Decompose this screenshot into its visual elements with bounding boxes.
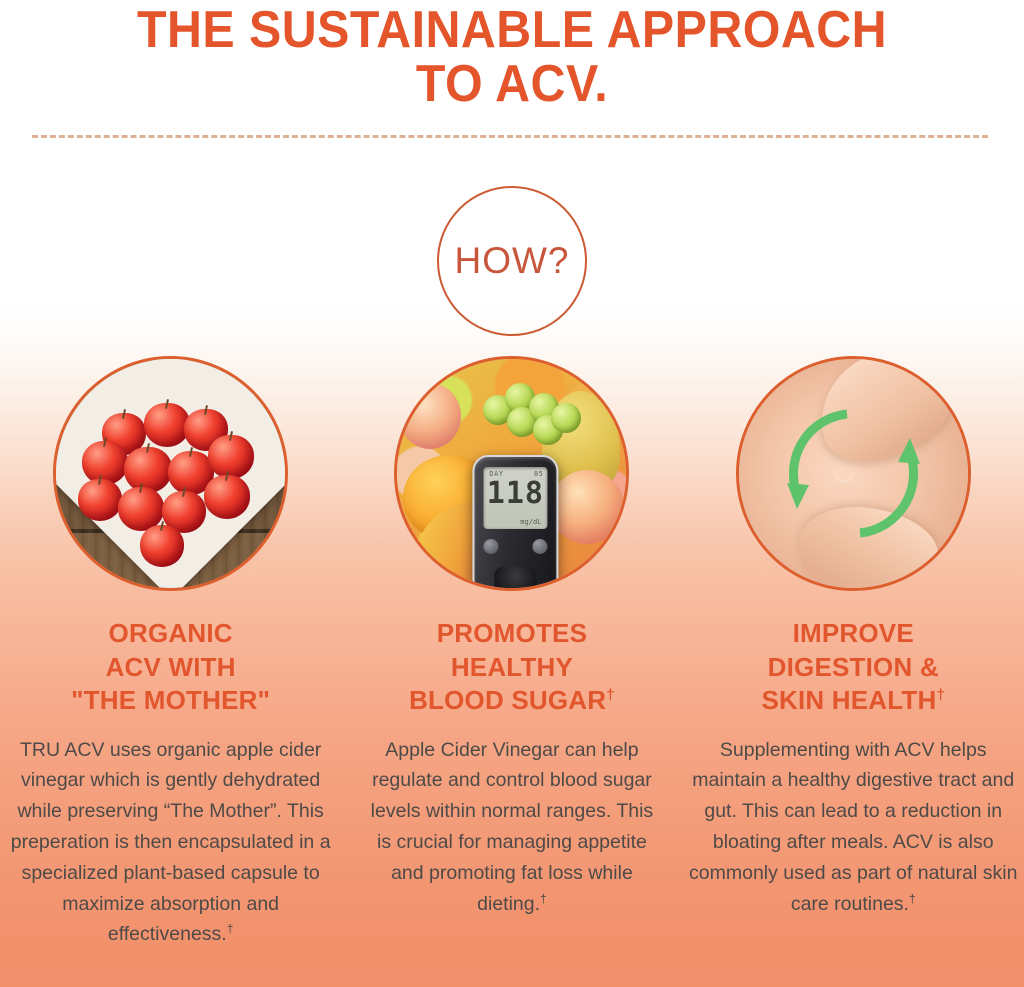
meter-strip-port (494, 567, 536, 591)
dagger-symbol: † (606, 686, 615, 703)
body-copy: TRU ACV uses organic apple cider vinegar… (11, 739, 331, 946)
peach-icon (399, 383, 461, 449)
grape-icon (551, 403, 581, 433)
column-body-text: TRU ACV uses organic apple cider vinegar… (1, 735, 341, 951)
heading-line: SKIN HEALTH† (761, 684, 945, 718)
benefit-column-blood-sugar: DAY 85 118 mg/dL PROMOTES HEALTHY BLOOD … (341, 356, 682, 950)
glucose-meter-with-fruit-photo: DAY 85 118 mg/dL (394, 356, 629, 591)
benefit-columns: ORGANIC ACV WITH "THE MOTHER" TRU ACV us… (0, 356, 1024, 950)
meter-reading-value: 118 (483, 478, 547, 510)
column-heading: IMPROVE DIGESTION & SKIN HEALTH† (761, 617, 945, 718)
digestion-cycle-arrows-icon (739, 359, 968, 588)
benefit-column-organic-acv: ORGANIC ACV WITH "THE MOTHER" TRU ACV us… (0, 356, 341, 950)
apple-icon (124, 447, 172, 493)
dagger-symbol: † (909, 891, 916, 905)
body-copy: Apple Cider Vinegar can help regulate an… (371, 739, 654, 915)
dagger-symbol: † (936, 686, 945, 703)
heading-line-text: "THE MOTHER" (71, 685, 270, 715)
apple-icon (208, 435, 254, 479)
heading-line-text: SKIN HEALTH (761, 685, 936, 715)
how-badge: HOW? (437, 186, 587, 336)
how-badge-label: HOW? (455, 240, 570, 282)
heading-line: ACV WITH (71, 651, 270, 685)
column-body-text: Supplementing with ACV helps maintain a … (684, 735, 1022, 920)
dagger-symbol: † (227, 922, 234, 936)
title-line-2: TO ACV. (36, 58, 988, 112)
heading-line: DIGESTION & (761, 651, 945, 685)
meter-button-right (532, 539, 547, 554)
column-heading: PROMOTES HEALTHY BLOOD SUGAR† (409, 617, 615, 718)
glucose-meter-device: DAY 85 118 mg/dL (472, 455, 558, 591)
body-copy: Supplementing with ACV helps maintain a … (689, 739, 1017, 915)
peach-icon (550, 470, 624, 544)
heading-line-text: BLOOD SUGAR (409, 685, 606, 715)
apples-in-heart-bowl-photo (53, 356, 288, 591)
benefit-column-digestion: IMPROVE DIGESTION & SKIN HEALTH† Supplem… (683, 356, 1024, 950)
heading-line: HEALTHY (409, 651, 615, 685)
infographic-page: THE SUSTAINABLE APPROACH TO ACV. HOW? (0, 0, 1024, 987)
abdomen-digestion-arrows-photo (736, 356, 971, 591)
grape-cluster-icon (483, 381, 579, 441)
meter-unit-label: mg/dL (520, 518, 541, 526)
heading-line: BLOOD SUGAR† (409, 684, 615, 718)
apple-icon (140, 525, 184, 567)
meter-button-left (483, 539, 498, 554)
apple-cluster (56, 359, 285, 588)
heading-line: IMPROVE (761, 617, 945, 651)
heading-line: PROMOTES (409, 617, 615, 651)
page-title: THE SUSTAINABLE APPROACH TO ACV. (0, 0, 1024, 111)
dashed-divider (32, 135, 988, 138)
apple-icon (204, 475, 250, 519)
heading-line: "THE MOTHER" (71, 684, 270, 718)
column-body-text: Apple Cider Vinegar can help regulate an… (362, 735, 662, 920)
meter-lcd-screen: DAY 85 118 mg/dL (483, 467, 547, 529)
heading-line: ORGANIC (71, 617, 270, 651)
title-line-1: THE SUSTAINABLE APPROACH (36, 4, 988, 58)
apple-icon (78, 479, 122, 521)
dagger-symbol: † (540, 891, 547, 905)
column-heading: ORGANIC ACV WITH "THE MOTHER" (71, 617, 270, 718)
